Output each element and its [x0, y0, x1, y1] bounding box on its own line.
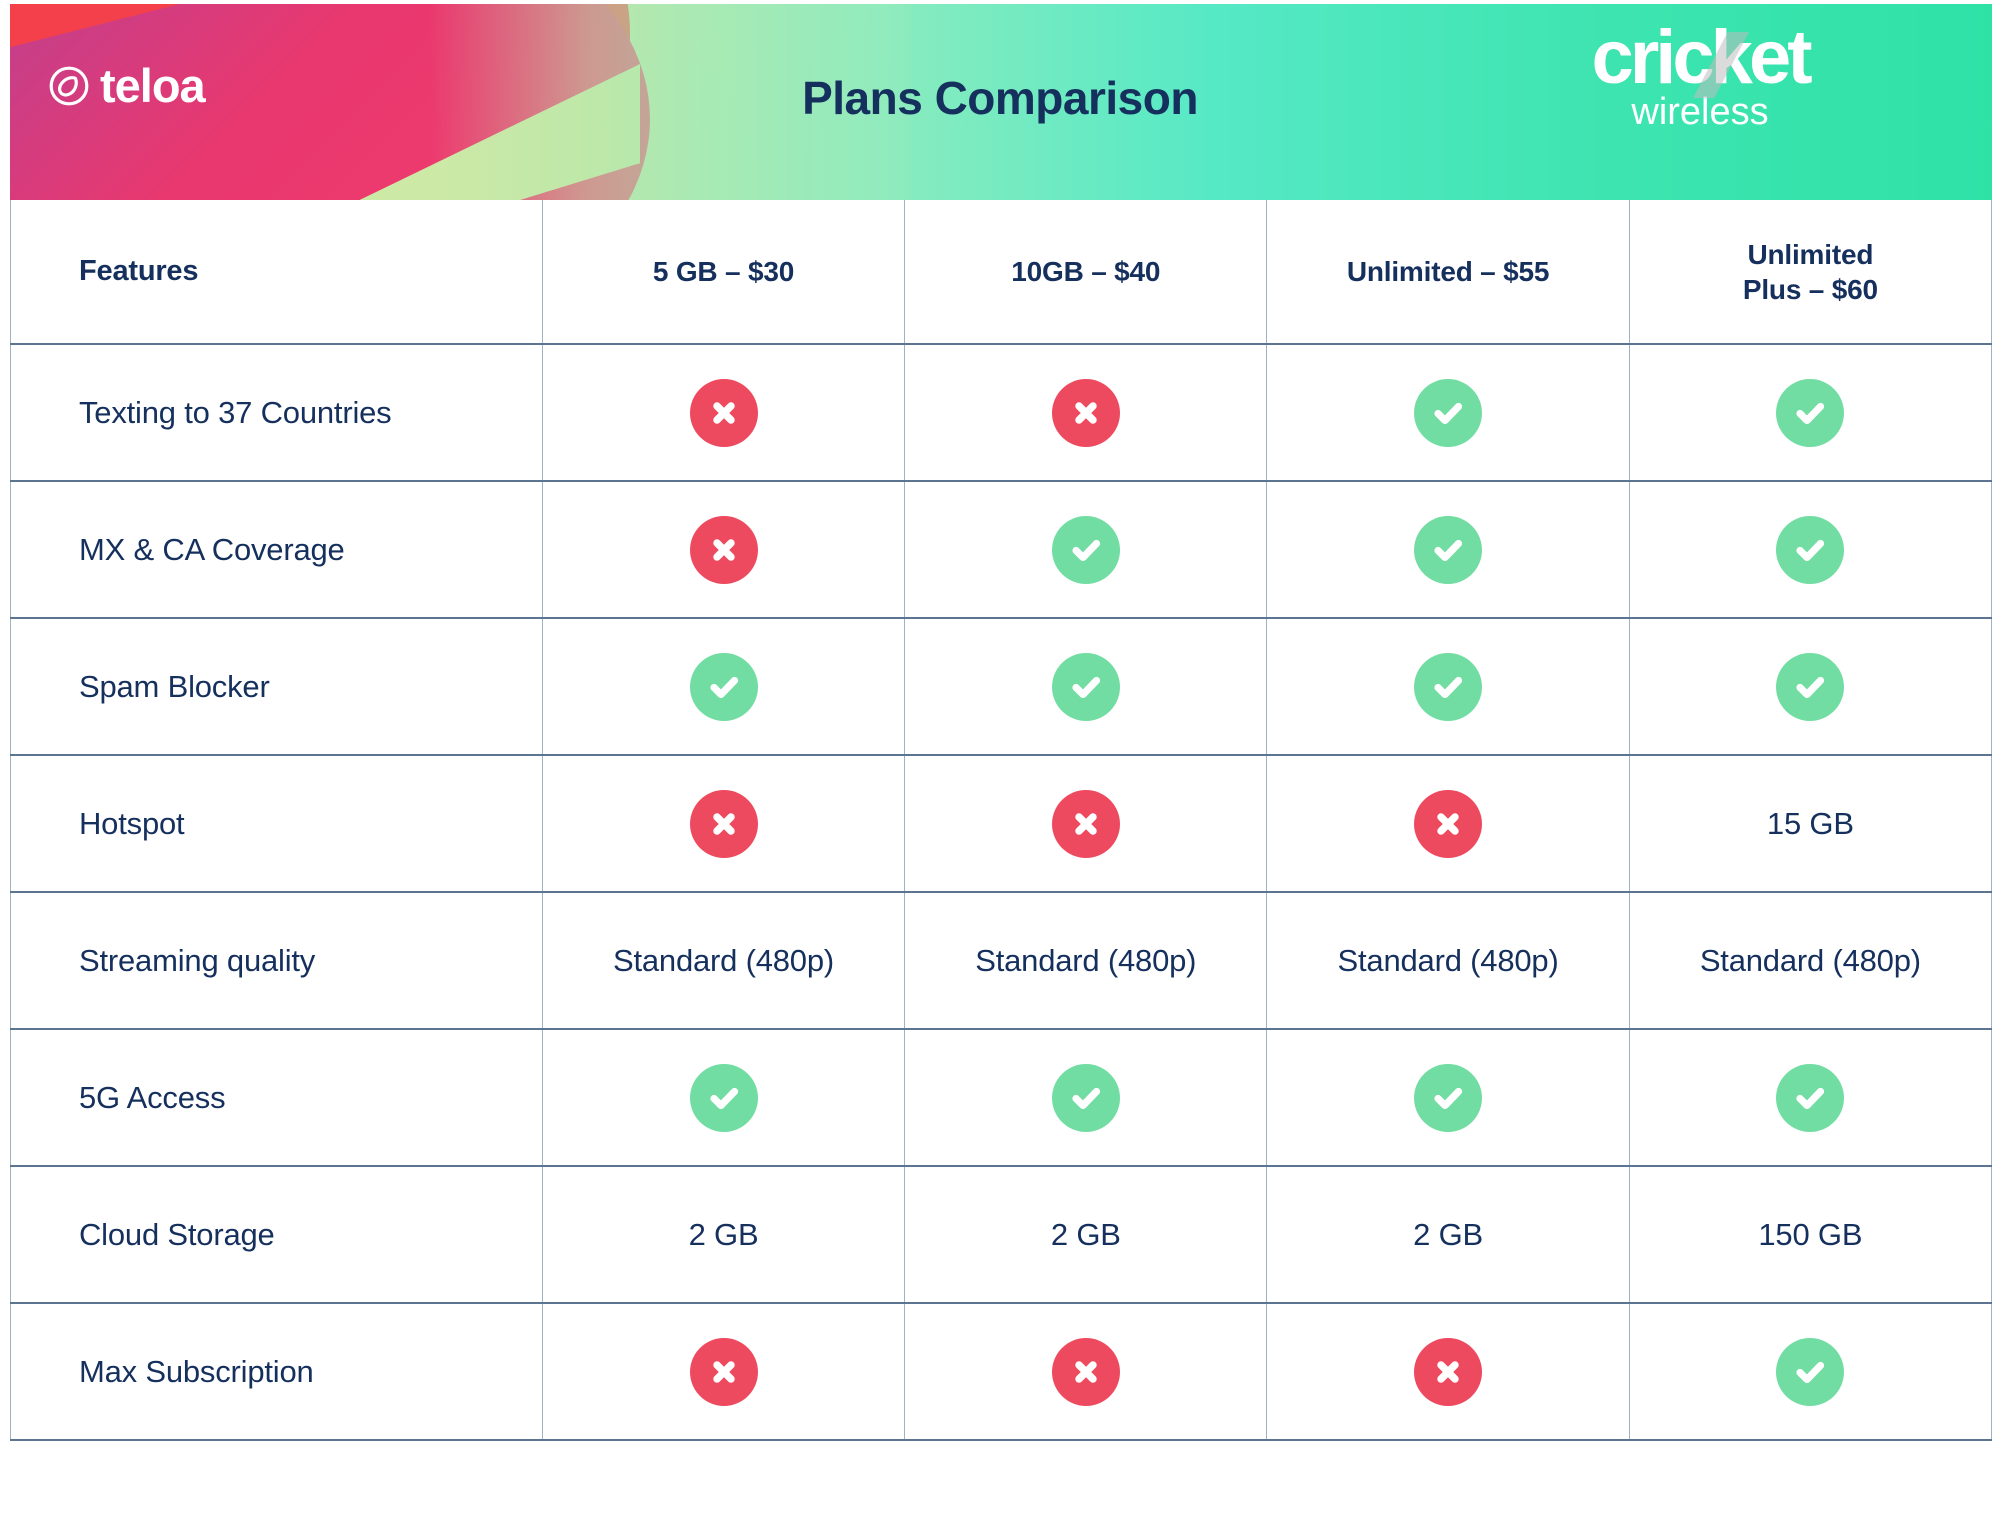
plan-included-cell: [1267, 344, 1629, 481]
feature-label-cell: 5G Access: [11, 1029, 543, 1166]
table-row: Max Subscription: [11, 1303, 1992, 1440]
plan-included-cell: [542, 618, 904, 755]
table-row: Spam Blocker: [11, 618, 1992, 755]
plan-included-cell: [905, 481, 1267, 618]
check-circle-icon: [1414, 1064, 1482, 1132]
check-circle-icon: [1776, 379, 1844, 447]
check-circle-icon: [1052, 1064, 1120, 1132]
feature-label-cell: MX & CA Coverage: [11, 481, 543, 618]
feature-label-cell: Max Subscription: [11, 1303, 543, 1440]
plan-excluded-cell: [542, 344, 904, 481]
icon-wrap: [905, 653, 1266, 721]
icon-wrap: [905, 1338, 1266, 1406]
table-row: MX & CA Coverage: [11, 481, 1992, 618]
plan-value-cell: Standard (480p): [542, 892, 904, 1029]
x-circle-icon: [1052, 1338, 1120, 1406]
check-circle-icon: [1414, 653, 1482, 721]
table-row: Cloud Storage2 GB2 GB2 GB150 GB: [11, 1166, 1992, 1303]
table-head: Features 5 GB – $30 10GB – $40 Unlimited…: [11, 200, 1992, 344]
plan-excluded-cell: [1267, 1303, 1629, 1440]
icon-wrap: [1630, 379, 1991, 447]
plan-value-cell: 2 GB: [542, 1166, 904, 1303]
column-header-plan-2: 10GB – $40: [905, 200, 1267, 344]
plan-value-cell: Standard (480p): [1629, 892, 1991, 1029]
x-circle-icon: [1414, 1338, 1482, 1406]
cricket-wireless-logo[interactable]: cricket wireless: [1530, 22, 1870, 134]
plan-value-cell: Standard (480p): [1267, 892, 1629, 1029]
check-circle-icon: [690, 653, 758, 721]
check-circle-icon: [1776, 1338, 1844, 1406]
icon-wrap: [543, 1064, 904, 1132]
feature-label-cell: Cloud Storage: [11, 1166, 543, 1303]
feature-label-cell: Streaming quality: [11, 892, 543, 1029]
column-header-plan-1: 5 GB – $30: [542, 200, 904, 344]
icon-wrap: [543, 379, 904, 447]
check-circle-icon: [1414, 379, 1482, 447]
plan-value-cell: 2 GB: [905, 1166, 1267, 1303]
table-row: 5G Access: [11, 1029, 1992, 1166]
check-circle-icon: [1052, 653, 1120, 721]
icon-wrap: [543, 790, 904, 858]
icon-wrap: [1267, 1064, 1628, 1132]
icon-wrap: [905, 1064, 1266, 1132]
icon-wrap: [1267, 379, 1628, 447]
plan-included-cell: [905, 618, 1267, 755]
plan-excluded-cell: [905, 344, 1267, 481]
plan-included-cell: [1629, 618, 1991, 755]
check-circle-icon: [1776, 1064, 1844, 1132]
feature-label-cell: Hotspot: [11, 755, 543, 892]
plan-value-cell: 150 GB: [1629, 1166, 1991, 1303]
teloa-wordmark: teloa: [100, 62, 205, 109]
plan-included-cell: [1629, 481, 1991, 618]
icon-wrap: [1267, 653, 1628, 721]
plan-included-cell: [1629, 1029, 1991, 1166]
icon-wrap: [543, 653, 904, 721]
feature-label-cell: Texting to 37 Countries: [11, 344, 543, 481]
plans-comparison-table: Features 5 GB – $30 10GB – $40 Unlimited…: [10, 200, 1992, 1441]
icon-wrap: [1630, 653, 1991, 721]
plan-included-cell: [1267, 1029, 1629, 1166]
plan-included-cell: [905, 1029, 1267, 1166]
x-circle-icon: [1052, 790, 1120, 858]
feature-label-cell: Spam Blocker: [11, 618, 543, 755]
check-circle-icon: [690, 1064, 758, 1132]
icon-wrap: [1267, 1338, 1628, 1406]
x-circle-icon: [690, 379, 758, 447]
cricket-wordmark: cricket: [1530, 22, 1870, 94]
plan-excluded-cell: [542, 755, 904, 892]
icon-wrap: [1267, 790, 1628, 858]
column-header-features: Features: [11, 200, 543, 344]
icon-wrap: [543, 1338, 904, 1406]
icon-wrap: [1267, 516, 1628, 584]
column-header-plan-3: Unlimited – $55: [1267, 200, 1629, 344]
icon-wrap: [905, 790, 1266, 858]
icon-wrap: [543, 516, 904, 584]
plan-value-cell: 15 GB: [1629, 755, 1991, 892]
table-body: Texting to 37 CountriesMX & CA CoverageS…: [11, 344, 1992, 1440]
plan-excluded-cell: [905, 1303, 1267, 1440]
x-circle-icon: [690, 1338, 758, 1406]
plan-excluded-cell: [1267, 755, 1629, 892]
table-header-row: Features 5 GB – $30 10GB – $40 Unlimited…: [11, 200, 1992, 344]
icon-wrap: [1630, 1338, 1991, 1406]
x-circle-icon: [1052, 379, 1120, 447]
plan-excluded-cell: [905, 755, 1267, 892]
plan-included-cell: [542, 1029, 904, 1166]
column-header-plan-4: UnlimitedPlus – $60: [1629, 200, 1991, 344]
plan-included-cell: [1629, 344, 1991, 481]
table-row: Texting to 37 Countries: [11, 344, 1992, 481]
check-circle-icon: [1776, 653, 1844, 721]
x-circle-icon: [690, 790, 758, 858]
x-circle-icon: [1414, 790, 1482, 858]
check-circle-icon: [1052, 516, 1120, 584]
teloa-eye-icon: [48, 65, 90, 107]
table-row: Hotspot15 GB: [11, 755, 1992, 892]
cricket-wordmark-text: cricket: [1591, 15, 1808, 100]
plan-included-cell: [1267, 618, 1629, 755]
plan-excluded-cell: [542, 481, 904, 618]
icon-wrap: [1630, 516, 1991, 584]
table-row: Streaming qualityStandard (480p)Standard…: [11, 892, 1992, 1029]
plan-included-cell: [1267, 481, 1629, 618]
icon-wrap: [905, 379, 1266, 447]
plan-value-cell: 2 GB: [1267, 1166, 1629, 1303]
check-circle-icon: [1414, 516, 1482, 584]
plan-included-cell: [1629, 1303, 1991, 1440]
icon-wrap: [905, 516, 1266, 584]
x-circle-icon: [690, 516, 758, 584]
plan-excluded-cell: [542, 1303, 904, 1440]
icon-wrap: [1630, 1064, 1991, 1132]
plans-comparison-page: teloa Plans Comparison cricket wireless …: [0, 0, 2000, 1514]
check-circle-icon: [1776, 516, 1844, 584]
teloa-logo[interactable]: teloa: [48, 62, 205, 109]
plan-value-cell: Standard (480p): [905, 892, 1267, 1029]
